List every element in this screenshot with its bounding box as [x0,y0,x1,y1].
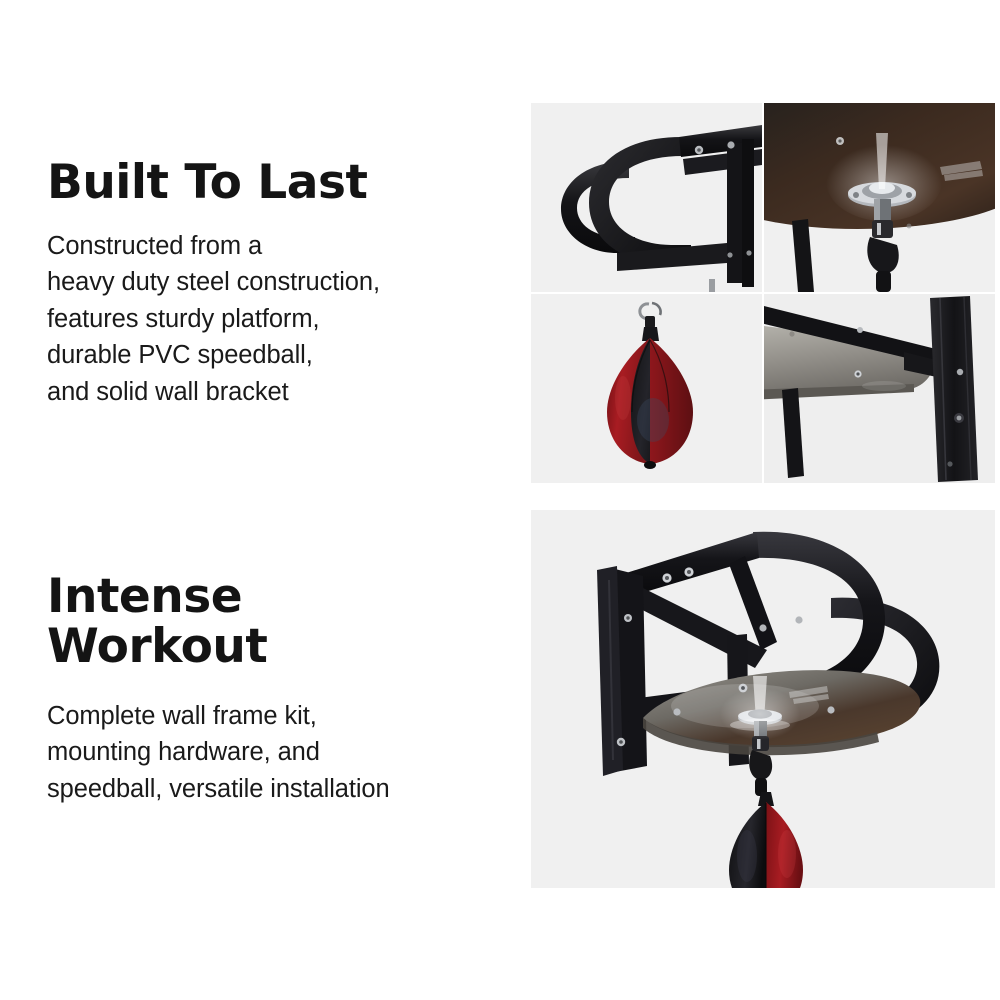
product-photo-speedball-icon [531,294,762,483]
headline-intense-workout: Intense Workout [47,572,517,672]
photo-frame-detail [531,103,762,292]
photo-wall-bracket-detail [764,294,995,483]
photo-speedball-detail [531,294,762,483]
feature-block-intense-workout: Intense Workout Complete wall frame kit,… [47,572,517,807]
body-intense-workout: Complete wall frame kit, mounting hardwa… [47,698,517,807]
body-built-to-last: Constructed from a heavy duty steel cons… [47,228,517,410]
product-photo-assembly-icon [531,510,995,888]
feature-block-built-to-last: Built To Last Constructed from a heavy d… [47,158,517,410]
product-feature-page: Built To Last Constructed from a heavy d… [0,0,1000,1000]
headline-built-to-last: Built To Last [47,158,517,208]
photo-swivel-mount-detail [764,103,995,292]
product-photo-grid [531,103,995,483]
product-photo-swivel-icon [764,103,995,292]
photo-full-assembly [531,510,995,888]
product-photo-frame-icon [531,103,762,292]
product-photo-bracket-icon [764,294,995,483]
